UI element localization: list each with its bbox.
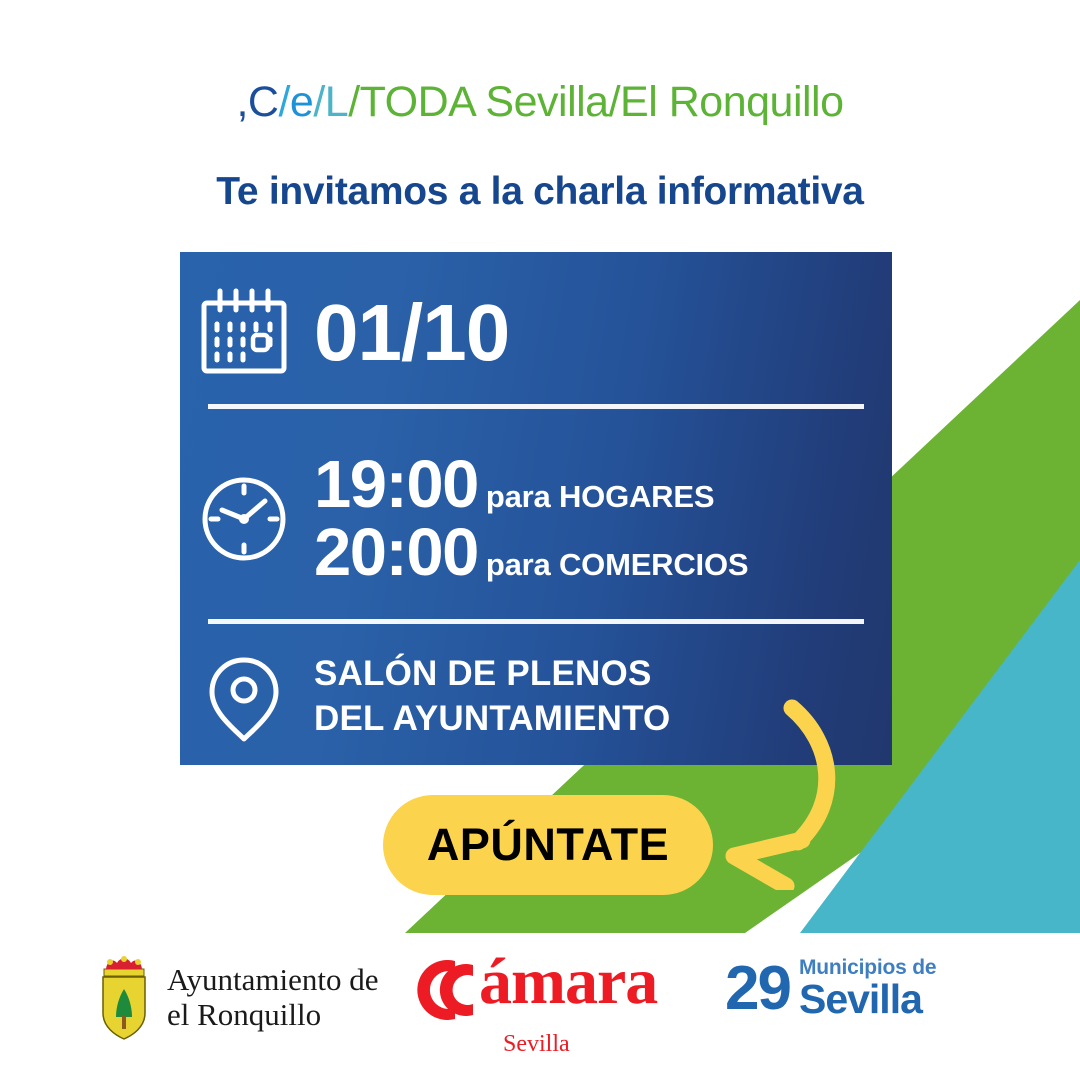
logo-part-2: e — [290, 78, 313, 126]
ayuntamiento-line-2: el Ronquillo — [167, 998, 379, 1033]
card-divider-1 — [208, 404, 864, 409]
time-value-1: 19:00 — [314, 451, 478, 519]
event-place-row: SALÓN DE PLENOS DEL AYUNTAMIENTO — [180, 637, 892, 757]
coat-of-arms-icon — [95, 955, 153, 1041]
event-date-value: 01/10 — [314, 293, 509, 373]
card-divider-2 — [208, 619, 864, 624]
logo-part-0: ,C — [236, 78, 278, 126]
apuntate-button-label: APÚNTATE — [427, 819, 669, 871]
logo-part-7: / — [609, 78, 620, 126]
camara-sub-label: Sevilla — [503, 1031, 570, 1058]
event-time-row: 19:00 para HOGARES 20:00 para COMERCIOS — [180, 424, 892, 614]
municipios-number: 29 — [725, 958, 790, 1020]
brand-logo: ,C/e/L/TODA Sevilla/El Ronquillo — [0, 78, 1080, 127]
place-line-1: SALÓN DE PLENOS — [314, 652, 670, 697]
municipios-big-label: Sevilla — [799, 979, 936, 1020]
time-entry-comercios: 20:00 para COMERCIOS — [314, 519, 748, 587]
time-audience-1: para HOGARES — [486, 481, 714, 513]
logo-ayuntamiento-el-ronquillo: Ayuntamiento de el Ronquillo — [95, 955, 379, 1041]
clock-icon — [180, 469, 308, 569]
logo-part-6: TODA Sevilla — [360, 78, 609, 126]
page-title: Te invitamos a la charla informativa — [0, 170, 1080, 214]
logo-part-5: / — [348, 78, 359, 126]
logo-part-4: L — [325, 78, 348, 126]
camara-monogram-icon — [415, 951, 477, 1029]
logo-29-municipios-sevilla: 29 Municipios de Sevilla — [725, 957, 936, 1020]
poster-canvas: ,C/e/L/TODA Sevilla/El Ronquillo Te invi… — [0, 0, 1080, 1080]
time-entry-hogares: 19:00 para HOGARES — [314, 451, 748, 519]
camara-wordmark: ámara — [479, 951, 657, 1014]
logo-camara-sevilla: ámara Sevilla — [415, 951, 657, 1058]
calendar-icon — [180, 283, 308, 383]
place-line-2: DEL AYUNTAMIENTO — [314, 697, 670, 742]
logo-part-1: / — [278, 78, 289, 126]
location-pin-icon — [180, 647, 308, 747]
time-audience-2: para COMERCIOS — [486, 549, 748, 581]
logo-part-3: / — [313, 78, 324, 126]
ayuntamiento-line-1: Ayuntamiento de — [167, 963, 379, 998]
apuntate-button[interactable]: APÚNTATE — [383, 795, 713, 895]
municipios-small-label: Municipios de — [799, 957, 936, 978]
event-info-card: 01/10 — [180, 252, 892, 765]
time-value-2: 20:00 — [314, 519, 478, 587]
footer-logos: Ayuntamiento de el Ronquillo ámara Sevil… — [0, 945, 1080, 1080]
logo-part-8: El Ronquillo — [620, 78, 843, 126]
event-date-row: 01/10 — [180, 270, 892, 396]
